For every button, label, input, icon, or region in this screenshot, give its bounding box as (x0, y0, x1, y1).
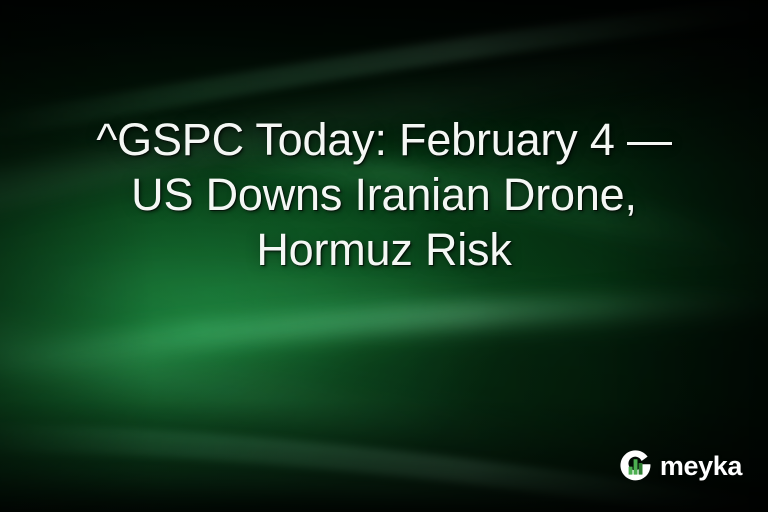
title-line-2: US Downs Iranian Drone, (24, 167, 744, 222)
cover-title: ^GSPC Today: February 4 — US Downs Irani… (0, 112, 768, 277)
meyka-wordmark: meyka (660, 453, 742, 480)
title-line-3: Hormuz Risk (24, 222, 744, 277)
meyka-bar-chart-circle-icon (617, 447, 655, 485)
meyka-logo[interactable]: meyka (617, 447, 742, 485)
article-cover-card: ^GSPC Today: February 4 — US Downs Irani… (0, 0, 768, 512)
title-line-1: ^GSPC Today: February 4 — (24, 112, 744, 167)
